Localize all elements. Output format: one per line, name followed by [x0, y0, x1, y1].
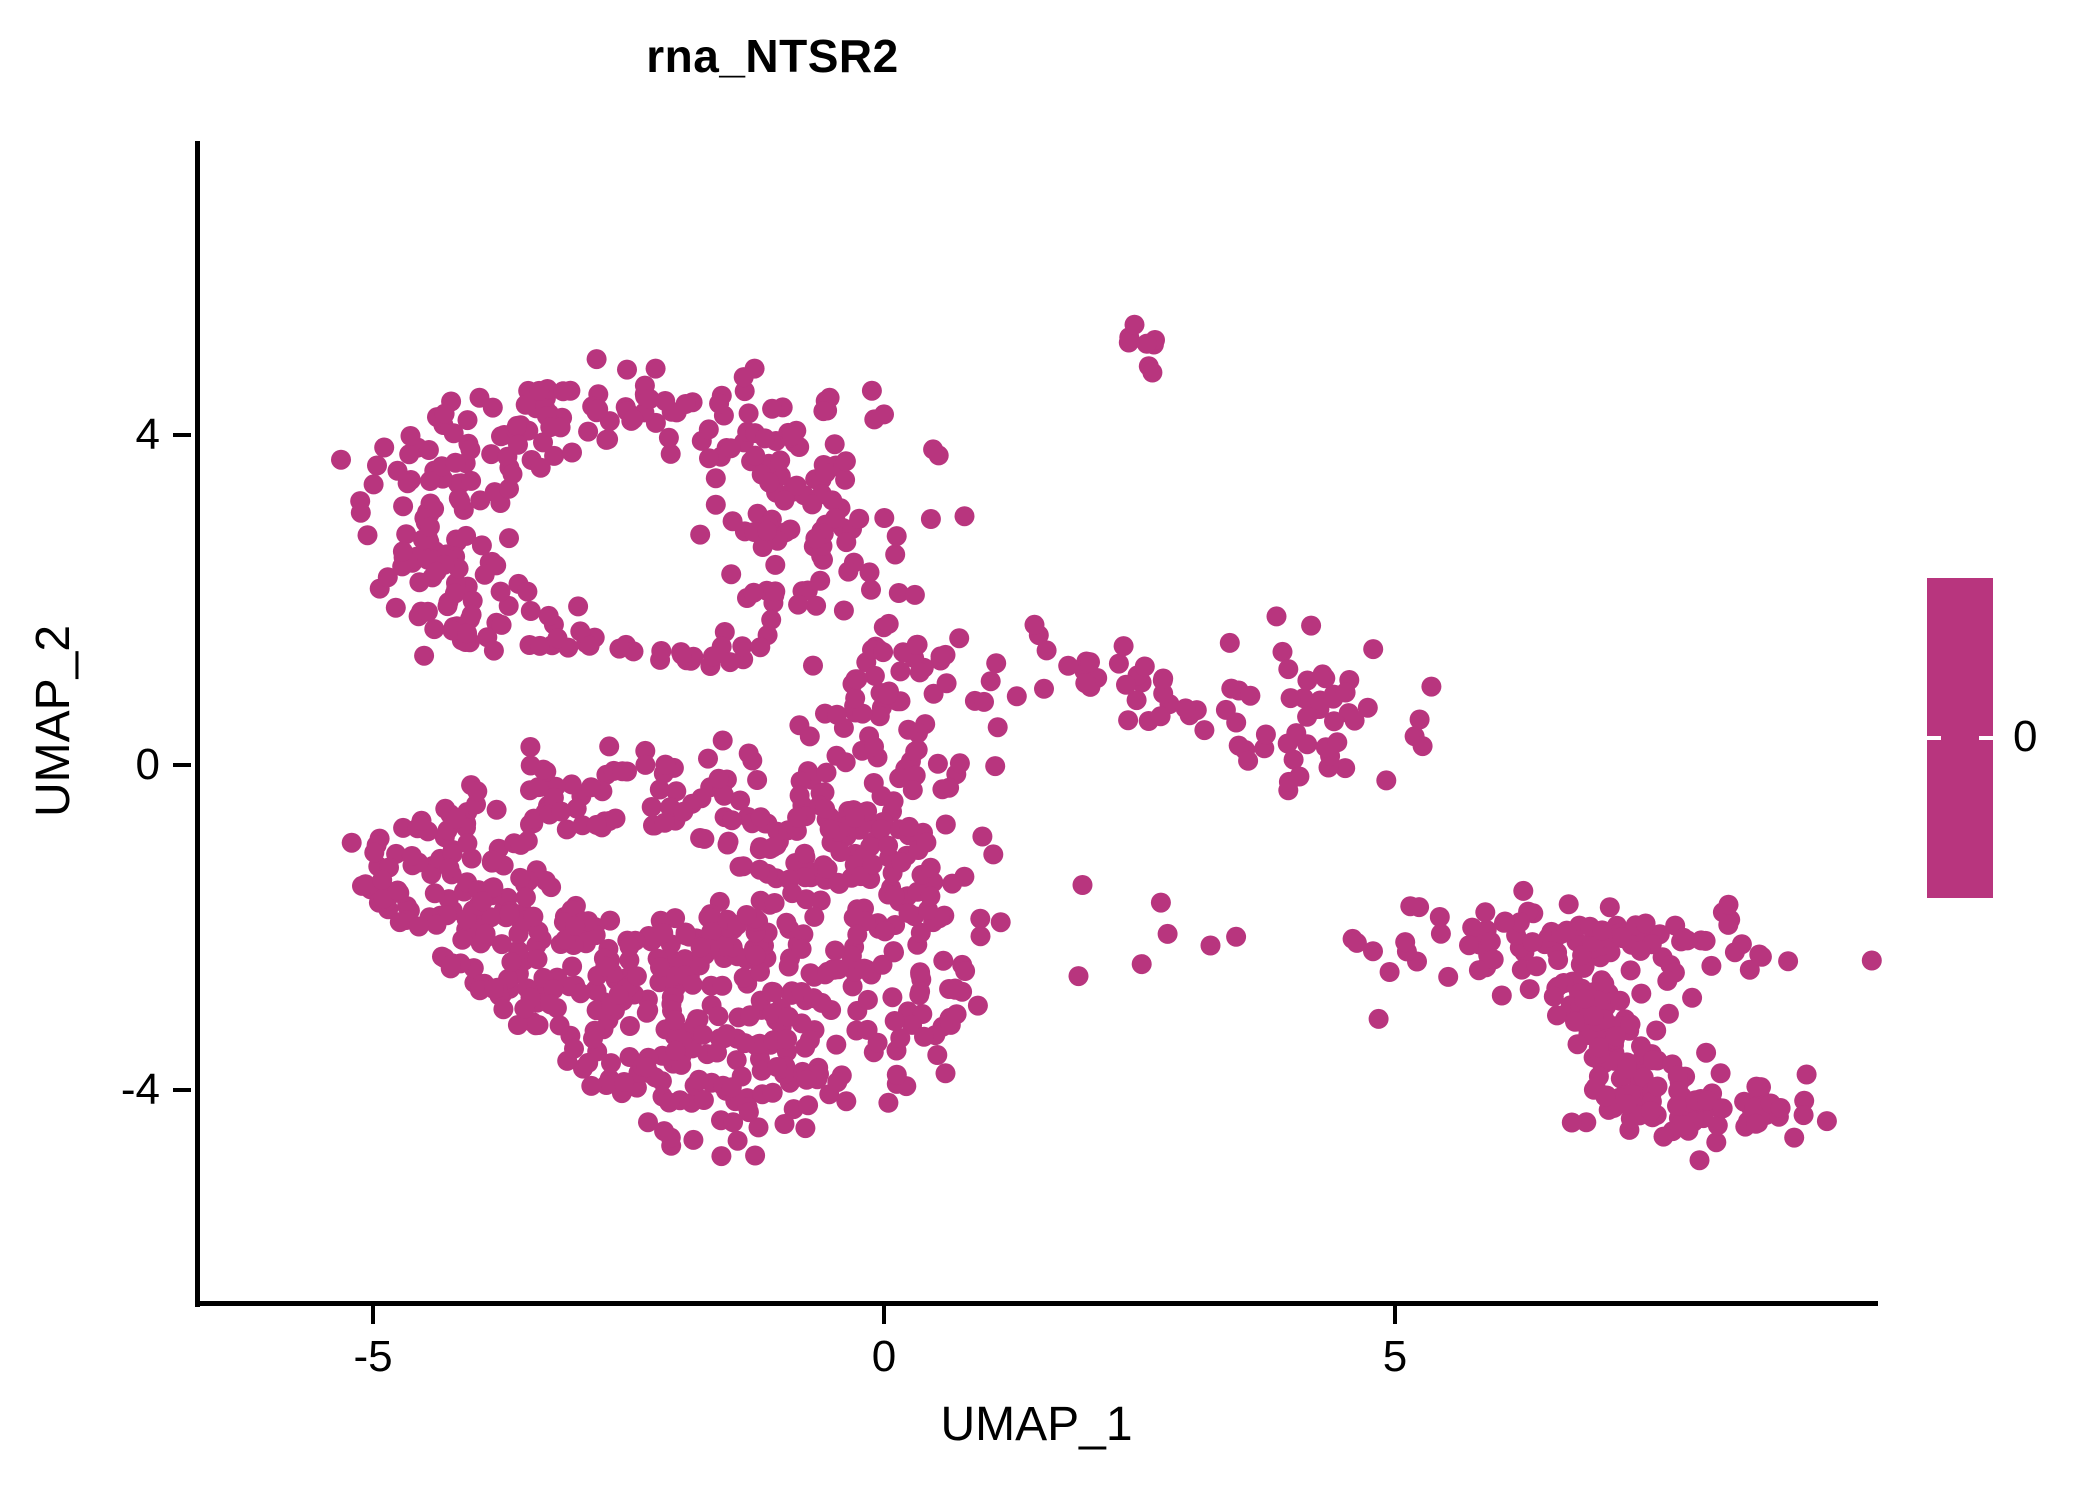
- colorbar-legend[interactable]: 0: [1927, 578, 2097, 908]
- y-tick-mark-2: [173, 1088, 191, 1092]
- x-tick-label-0: -5: [293, 1331, 453, 1383]
- x-axis-line: [195, 1301, 1878, 1306]
- scatter-points-layer: [0, 0, 2100, 1500]
- y-axis-label: UMAP_2: [25, 371, 83, 1071]
- x-tick-label-1: 0: [804, 1331, 964, 1383]
- x-tick-mark-1: [882, 1306, 886, 1324]
- y-tick-mark-1: [173, 763, 191, 767]
- colorbar-tick-mark-left: [1927, 736, 1941, 740]
- x-axis-label: UMAP_1: [195, 1396, 1878, 1454]
- x-tick-mark-0: [371, 1306, 375, 1324]
- y-tick-mark-0: [173, 433, 191, 437]
- x-tick-label-2: 5: [1315, 1331, 1475, 1383]
- x-tick-mark-2: [1393, 1306, 1397, 1324]
- colorbar-tick-label: 0: [2013, 711, 2037, 763]
- y-tick-label-2: -4: [0, 1064, 160, 1116]
- page-title: rna_NTSR2: [0, 28, 1545, 84]
- y-axis-line: [195, 141, 200, 1307]
- colorbar-tick-mark-right: [1979, 736, 1993, 740]
- umap-feature-plot: rna_NTSR2 -5 0 5 4 0 -4 UMAP_1 UMAP_2 0: [0, 0, 2100, 1500]
